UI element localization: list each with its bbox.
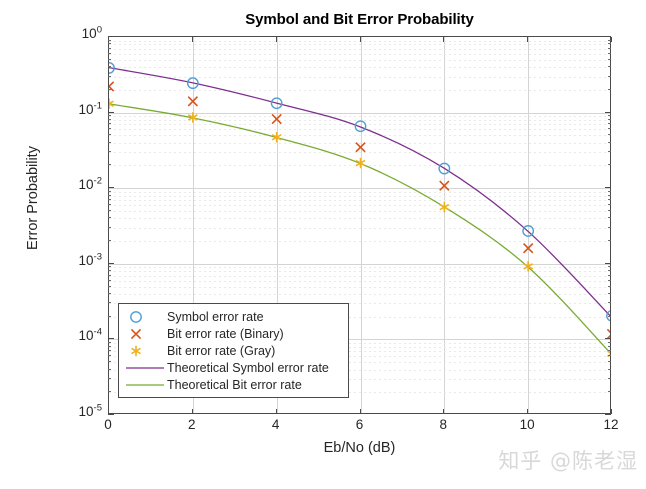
y-tick-mark-minor-right: [608, 151, 611, 152]
legend-line-icon: [123, 360, 167, 376]
y-tick-mark-minor-right: [608, 217, 611, 218]
y-tick-mark-minor-right: [608, 89, 611, 90]
y-tick-mark-minor: [108, 40, 111, 41]
y-tick-mark-minor-right: [608, 115, 611, 116]
y-tick-mark-minor: [108, 378, 111, 379]
y-tick-mark-minor-right: [608, 280, 611, 281]
legend-item-label: Bit error rate (Binary): [167, 327, 284, 341]
y-tick-mark-minor: [108, 204, 111, 205]
y-tick-mark-minor: [108, 142, 111, 143]
y-tick-mark-minor-right: [608, 204, 611, 205]
series-marker: [272, 114, 281, 123]
y-tick-mark-minor: [108, 195, 111, 196]
x-tick-mark-top: [611, 37, 612, 42]
x-tick-label: 6: [340, 417, 380, 432]
x-tick-label: 10: [507, 417, 547, 432]
y-tick-mark-major: [108, 338, 114, 339]
y-tick-mark-minor: [108, 43, 111, 44]
y-tick-mark-major-right: [605, 187, 611, 188]
y-tick-mark-minor-right: [608, 164, 611, 165]
y-tick-mark-minor: [108, 316, 111, 317]
y-tick-mark-minor: [108, 217, 111, 218]
legend-item[interactable]: Theoretical Bit error rate: [119, 376, 348, 393]
y-tick-mark-minor-right: [608, 66, 611, 67]
y-tick-mark-minor: [108, 191, 111, 192]
x-tick-mark: [443, 409, 444, 414]
y-tick-mark-major: [108, 263, 114, 264]
legend-x-marker-icon: [123, 326, 167, 342]
y-tick-mark-minor: [108, 66, 111, 67]
y-tick-mark-minor: [108, 350, 111, 351]
y-tick-mark-minor-right: [608, 134, 611, 135]
x-tick-mark: [192, 409, 193, 414]
series-marker: [440, 202, 449, 212]
y-tick-mark-major: [108, 414, 114, 415]
y-tick-mark-minor: [108, 48, 111, 49]
y-tick-mark-minor: [108, 164, 111, 165]
series-marker: [356, 143, 365, 152]
y-tick-mark-minor-right: [608, 128, 611, 129]
legend-marker: [131, 311, 141, 321]
y-tick-mark-minor-right: [608, 302, 611, 303]
x-tick-mark-top: [360, 37, 361, 42]
y-tick-mark-minor-right: [608, 266, 611, 267]
legend-asterisk-marker-icon: [123, 343, 167, 359]
y-tick-mark-minor: [108, 266, 111, 267]
y-tick-mark-minor-right: [608, 240, 611, 241]
series-marker: [607, 329, 611, 338]
y-tick-mark-minor-right: [608, 59, 611, 60]
legend[interactable]: Symbol error rateBit error rate (Binary)…: [118, 303, 349, 398]
y-tick-mark-major-right: [605, 36, 611, 37]
legend-item-label: Bit error rate (Gray): [167, 344, 275, 358]
y-tick-mark-minor: [108, 59, 111, 60]
y-tick-mark-minor-right: [608, 293, 611, 294]
y-tick-mark-minor: [108, 391, 111, 392]
y-tick-mark-minor: [108, 355, 111, 356]
y-tick-mark-minor: [108, 89, 111, 90]
y-tick-mark-minor-right: [608, 391, 611, 392]
x-tick-mark-top: [276, 37, 277, 42]
y-tick-label: 100: [32, 26, 102, 41]
y-tick-mark-minor-right: [608, 40, 611, 41]
y-tick-mark-minor: [108, 342, 111, 343]
series-marker: [356, 158, 365, 168]
legend-item[interactable]: Symbol error rate: [119, 308, 348, 325]
y-tick-mark-minor-right: [608, 355, 611, 356]
y-tick-mark-minor: [108, 346, 111, 347]
y-tick-mark-minor-right: [608, 76, 611, 77]
y-tick-mark-minor: [108, 134, 111, 135]
y-tick-mark-minor: [108, 240, 111, 241]
y-tick-mark-minor-right: [608, 48, 611, 49]
y-tick-mark-minor-right: [608, 361, 611, 362]
y-tick-mark-major-right: [605, 338, 611, 339]
y-tick-mark-minor: [108, 119, 111, 120]
x-tick-label: 0: [88, 417, 128, 432]
y-tick-mark-minor-right: [608, 350, 611, 351]
y-tick-mark-minor-right: [608, 43, 611, 44]
y-tick-mark-minor-right: [608, 275, 611, 276]
legend-item-label: Theoretical Symbol error rate: [167, 361, 329, 375]
y-tick-mark-minor-right: [608, 210, 611, 211]
x-tick-mark: [276, 409, 277, 414]
legend-item[interactable]: Theoretical Symbol error rate: [119, 359, 348, 376]
y-tick-mark-major-right: [605, 263, 611, 264]
matlab-figure: Symbol and Bit Error Probability 10010-1…: [0, 0, 646, 489]
y-tick-label: 10-4: [32, 328, 102, 343]
legend-item-label: Theoretical Bit error rate: [167, 378, 302, 392]
series-marker: [440, 181, 449, 190]
y-tick-mark-minor-right: [608, 199, 611, 200]
y-tick-mark-minor-right: [608, 123, 611, 124]
y-tick-mark-minor-right: [608, 286, 611, 287]
y-tick-mark-minor: [108, 286, 111, 287]
y-tick-mark-minor-right: [608, 227, 611, 228]
y-tick-mark-minor: [108, 270, 111, 271]
x-tick-mark: [611, 409, 612, 414]
legend-item[interactable]: Bit error rate (Binary): [119, 325, 348, 342]
x-tick-mark-top: [443, 37, 444, 42]
y-tick-mark-minor-right: [608, 346, 611, 347]
y-tick-mark-minor: [108, 293, 111, 294]
y-tick-mark-minor: [108, 123, 111, 124]
y-tick-mark-major: [108, 187, 114, 188]
legend-marker: [131, 329, 140, 338]
y-tick-mark-minor-right: [608, 195, 611, 196]
series-marker: [524, 244, 533, 253]
series-marker: [188, 97, 197, 106]
y-tick-label: 10-2: [32, 177, 102, 192]
y-tick-mark-minor-right: [608, 142, 611, 143]
y-tick-mark-minor: [108, 280, 111, 281]
y-tick-mark-major-right: [605, 112, 611, 113]
y-tick-mark-minor-right: [608, 378, 611, 379]
y-tick-mark-minor: [108, 76, 111, 77]
x-tick-mark: [527, 409, 528, 414]
watermark: 知乎 @陈老湿: [498, 445, 638, 475]
series-line: [109, 68, 611, 318]
y-tick-mark-minor: [108, 275, 111, 276]
page-title: Symbol and Bit Error Probability: [108, 11, 611, 28]
x-tick-label: 8: [423, 417, 463, 432]
y-tick-mark-minor: [108, 227, 111, 228]
y-tick-mark-minor: [108, 361, 111, 362]
x-tick-mark: [360, 409, 361, 414]
x-tick-mark-top: [192, 37, 193, 42]
y-tick-mark-minor: [108, 199, 111, 200]
x-tick-mark-top: [527, 37, 528, 42]
y-tick-mark-minor-right: [608, 369, 611, 370]
legend-marker: [131, 345, 140, 355]
legend-circle-marker-icon: [123, 309, 167, 325]
y-tick-label: 10-1: [32, 102, 102, 117]
x-tick-label: 12: [591, 417, 631, 432]
y-tick-mark-major: [108, 112, 114, 113]
y-tick-mark-minor: [108, 302, 111, 303]
y-tick-mark-minor: [108, 128, 111, 129]
legend-line-icon: [123, 377, 167, 393]
y-tick-mark-major-right: [605, 414, 611, 415]
y-tick-mark-minor-right: [608, 342, 611, 343]
y-tick-mark-minor: [108, 115, 111, 116]
y-tick-mark-major: [108, 36, 114, 37]
y-tick-mark-minor: [108, 53, 111, 54]
legend-item[interactable]: Bit error rate (Gray): [119, 342, 348, 359]
y-tick-mark-minor: [108, 151, 111, 152]
legend-item-label: Symbol error rate: [167, 310, 264, 324]
y-tick-label: 10-3: [32, 253, 102, 268]
y-tick-mark-minor: [108, 210, 111, 211]
y-tick-mark-minor-right: [608, 53, 611, 54]
y-tick-mark-minor-right: [608, 191, 611, 192]
y-tick-mark-minor-right: [608, 270, 611, 271]
x-tick-label: 2: [172, 417, 212, 432]
y-tick-mark-minor-right: [608, 316, 611, 317]
y-tick-mark-minor-right: [608, 119, 611, 120]
y-tick-mark-minor: [108, 369, 111, 370]
y-axis-label: Error Probability: [25, 103, 41, 293]
x-tick-label: 4: [256, 417, 296, 432]
